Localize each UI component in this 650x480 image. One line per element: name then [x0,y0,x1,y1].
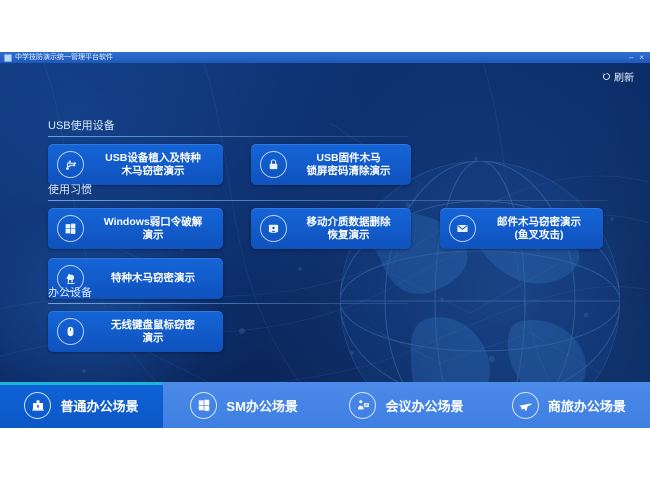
tab-label: 普通办公场景 [60,396,138,415]
button-usb-implant-trojan[interactable]: USB设备植入及特种 木马窃密演示 [48,144,223,185]
tab-sm-office-scenario[interactable]: SM办公场景 [163,382,325,428]
refresh-icon [602,72,611,81]
scenario-tab-bar: 普通办公场景 SM办公场景 [0,382,650,428]
section-office-equipment: 办公设备 无线键盘鼠标窃密 演示 [48,284,408,352]
tab-label: 会议办公场景 [385,396,463,415]
close-button[interactable]: × [639,54,644,62]
button-wireless-keyboard-mouse[interactable]: 无线键盘鼠标窃密 演示 [48,311,223,352]
button-label: 移动介质数据删除 恢复演示 [296,216,401,242]
button-row: USB设备植入及特种 木马窃密演示 USB固件木马 锁屏密码清除演示 [48,144,408,185]
button-windows-weak-password[interactable]: Windows弱口令破解 演示 [48,208,223,249]
title-bar: 中学技防演示统一管理平台软件 – × [0,52,650,63]
section-divider [48,303,408,304]
button-usb-firmware-lockscreen[interactable]: USB固件木马 锁屏密码清除演示 [251,144,411,185]
section-divider [48,136,408,137]
refresh-label: 刷新 [614,69,634,84]
refresh-button[interactable]: 刷新 [602,69,634,84]
button-label: Windows弱口令破解 演示 [93,216,213,242]
button-mail-trojan-spear-phishing[interactable]: 邮件木马窃密演示 (鱼叉攻击) [440,208,603,249]
lock-icon [260,151,287,178]
drive-icon [260,215,287,242]
section-usage-habits: 使用习惯 Windows弱口令破解 演示 [48,181,608,299]
button-label: USB固件木马 锁屏密码清除演示 [296,152,401,178]
window-controls: – × [629,54,650,62]
office-icon [24,392,51,419]
section-usb-devices: USB使用设备 USB设备 [48,117,408,185]
minimize-button[interactable]: – [629,54,633,62]
windows-icon [57,215,84,242]
button-row: Windows弱口令破解 演示 移动介质数据删除 恢复演示 [48,208,608,249]
usb-icon [57,151,84,178]
mouse-icon [57,318,84,345]
section-divider [48,200,608,201]
button-removable-media-recovery[interactable]: 移动介质数据删除 恢复演示 [251,208,411,249]
window-title: 中学技防演示统一管理平台软件 [15,52,113,63]
button-label: 邮件木马窃密演示 (鱼叉攻击) [485,216,593,242]
tab-business-travel-office-scenario[interactable]: 商旅办公场景 [488,382,650,428]
tab-meeting-office-scenario[interactable]: 会议办公场景 [325,382,487,428]
button-label: USB设备植入及特种 木马窃密演示 [93,152,213,178]
tab-label: SM办公场景 [226,396,298,415]
main-canvas: 刷新 USB使用设备 [0,63,650,428]
section-title: 使用习惯 [48,181,608,200]
section-title: USB使用设备 [48,117,408,136]
application-window: 中学技防演示统一管理平台软件 – × [0,52,650,428]
section-title: 办公设备 [48,284,408,303]
meeting-icon [349,392,376,419]
airplane-icon [512,392,539,419]
windows-tab-icon [190,392,217,419]
button-row: 无线键盘鼠标窃密 演示 [48,311,408,352]
mail-icon [449,215,476,242]
tab-label: 商旅办公场景 [548,396,626,415]
button-label: 无线键盘鼠标窃密 演示 [93,319,213,345]
app-icon [4,54,12,62]
tab-normal-office-scenario[interactable]: 普通办公场景 [0,382,163,428]
